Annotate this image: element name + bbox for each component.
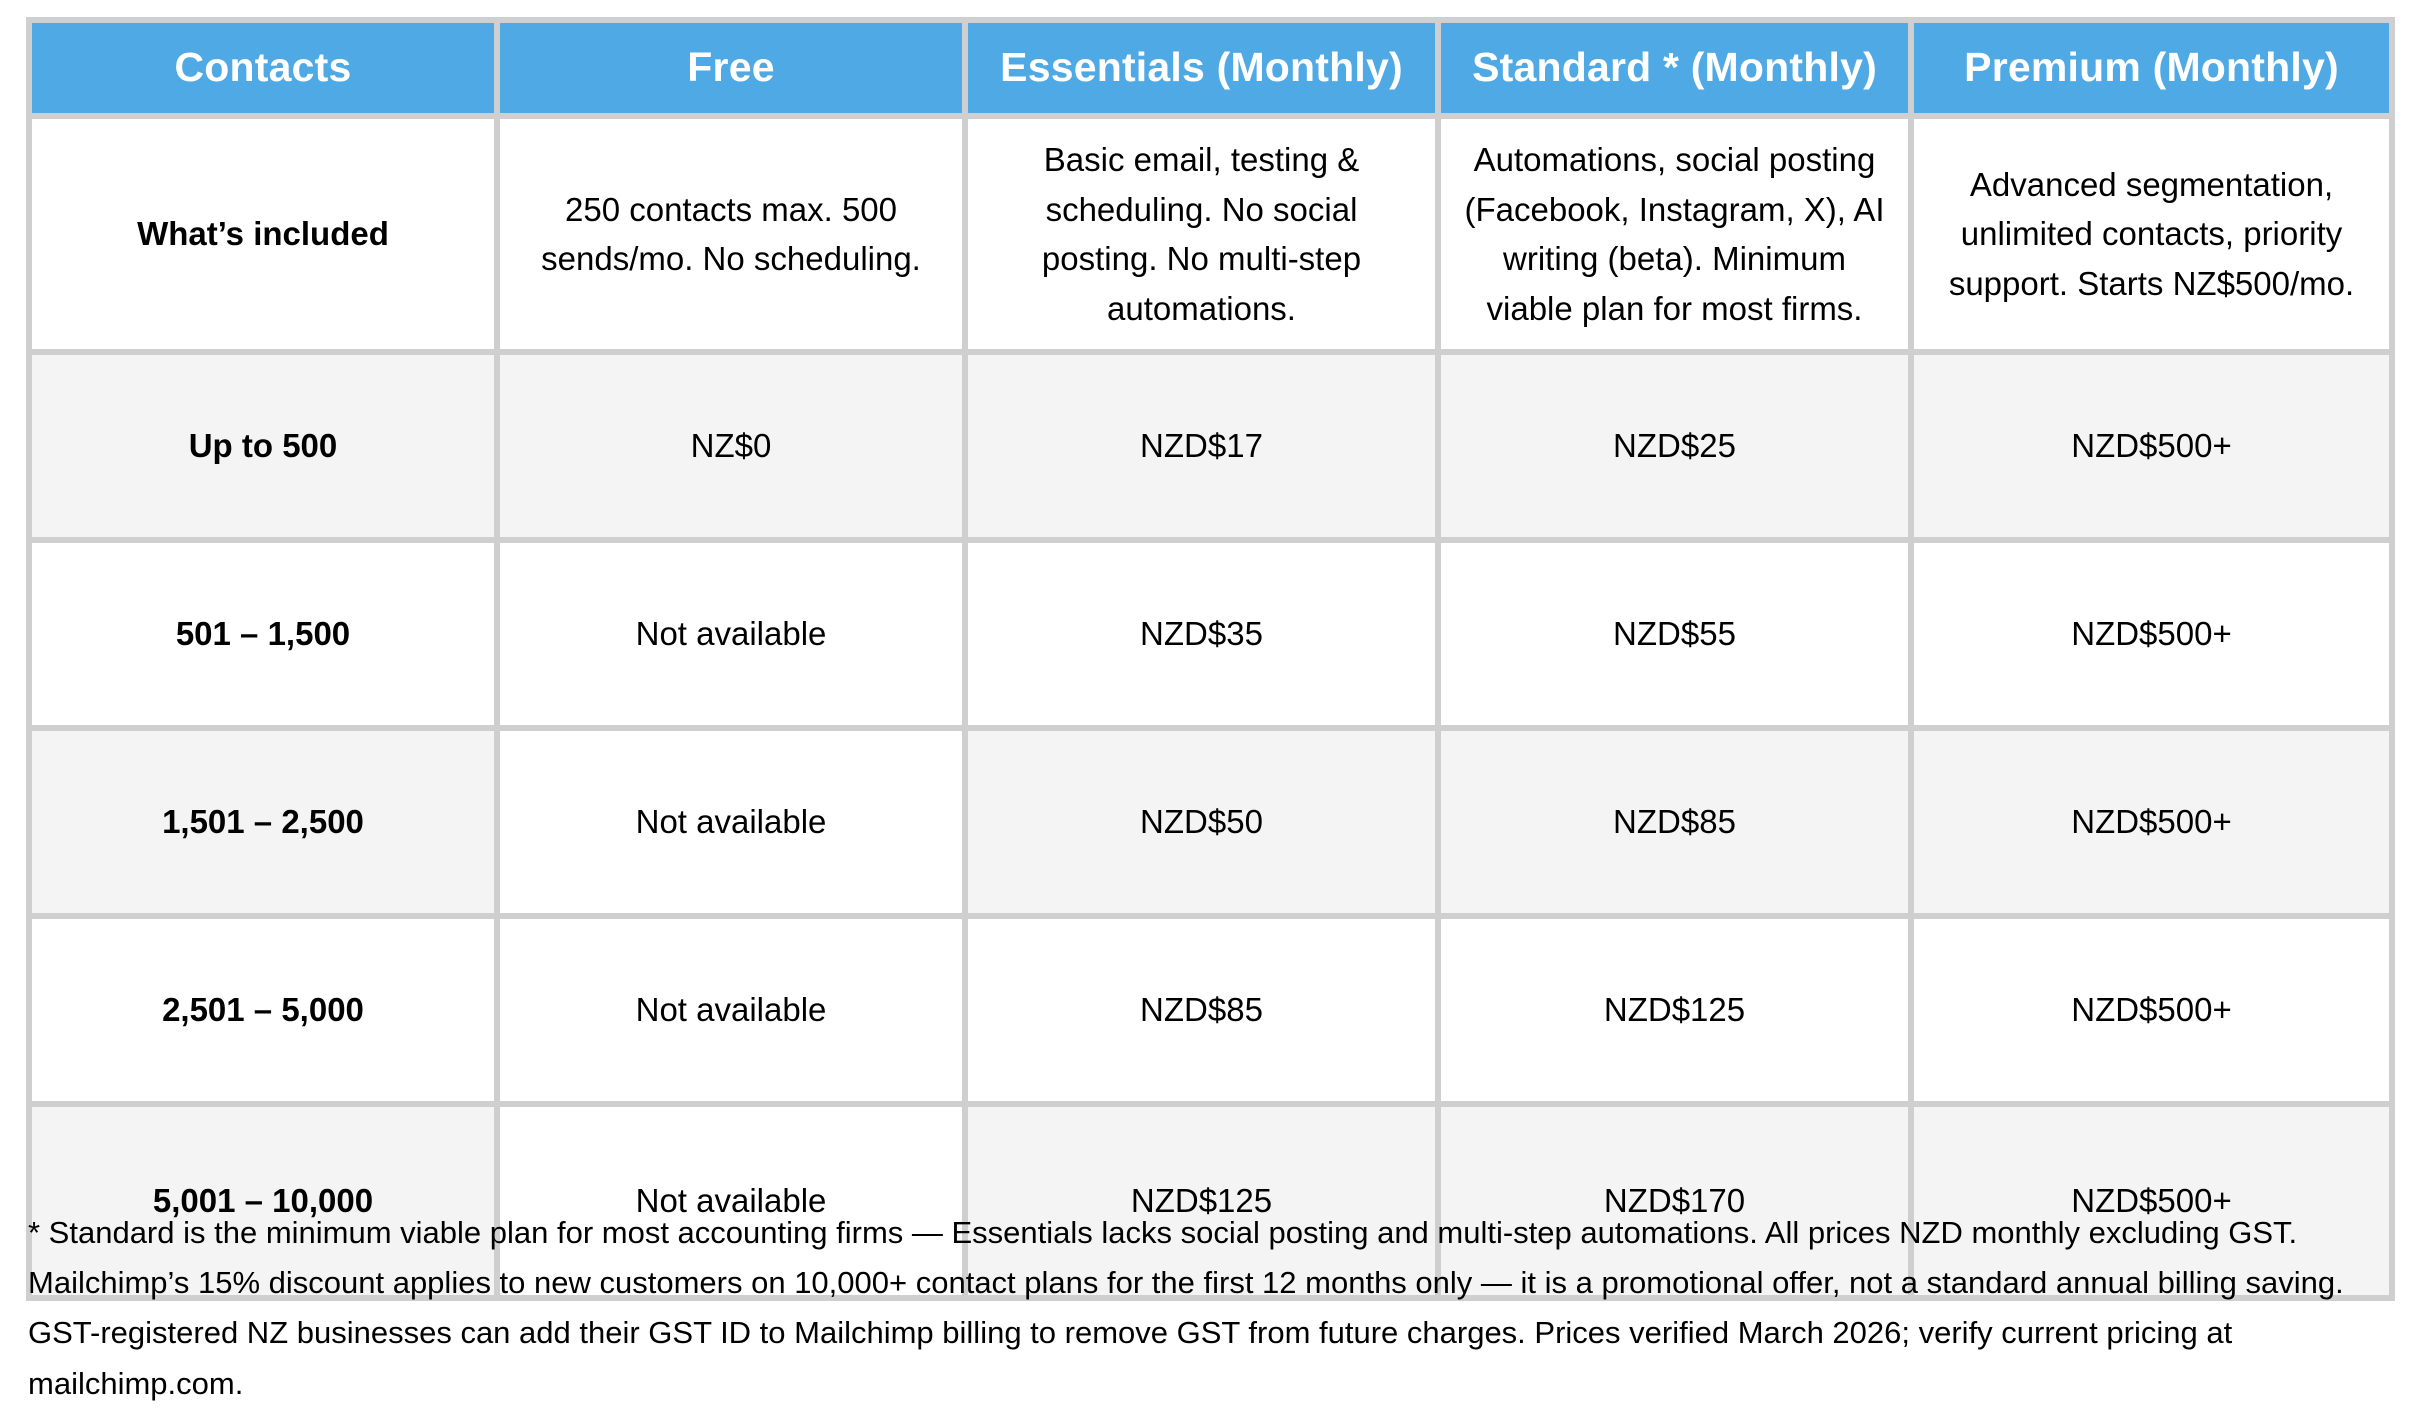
cell-premium-2501-5000: NZD$500+ [1914,919,2389,1107]
table-row: 501 – 1,500 Not available NZD$35 NZD$55 … [32,543,2389,731]
table-row: 2,501 – 5,000 Not available NZD$85 NZD$1… [32,919,2389,1107]
column-header-standard: Standard * (Monthly) [1441,23,1914,119]
row-label-501-1500: 501 – 1,500 [32,543,500,731]
row-label-whats-included: What’s included [32,119,500,355]
column-header-premium: Premium (Monthly) [1914,23,2389,119]
mailchimp-pricing-table: Contacts Free Essentials (Monthly) Stand… [32,23,2389,1295]
cell-standard-1501-2500: NZD$85 [1441,731,1914,919]
footnote-text: * Standard is the minimum viable plan fo… [28,1208,2348,1409]
column-header-essentials: Essentials (Monthly) [968,23,1441,119]
row-label-2501-5000: 2,501 – 5,000 [32,919,500,1107]
cell-essentials-501-1500: NZD$35 [968,543,1441,731]
cell-free-whats-included: 250 contacts max. 500 sends/mo. No sched… [500,119,968,355]
cell-free-1501-2500: Not available [500,731,968,919]
cell-free-up-to-500: NZ$0 [500,355,968,543]
cell-essentials-2501-5000: NZD$85 [968,919,1441,1107]
cell-essentials-up-to-500: NZD$17 [968,355,1441,543]
cell-essentials-whats-included: Basic email, testing & scheduling. No so… [968,119,1441,355]
row-label-1501-2500: 1,501 – 2,500 [32,731,500,919]
pricing-comparison-page: Contacts Free Essentials (Monthly) Stand… [0,0,2414,1398]
cell-premium-whats-included: Advanced segmentation, unlimited contact… [1914,119,2389,355]
cell-standard-2501-5000: NZD$125 [1441,919,1914,1107]
cell-premium-501-1500: NZD$500+ [1914,543,2389,731]
pricing-table-container: Contacts Free Essentials (Monthly) Stand… [26,17,2395,1301]
cell-premium-up-to-500: NZD$500+ [1914,355,2389,543]
column-header-free: Free [500,23,968,119]
header-row: Contacts Free Essentials (Monthly) Stand… [32,23,2389,119]
column-header-contacts: Contacts [32,23,500,119]
cell-premium-1501-2500: NZD$500+ [1914,731,2389,919]
row-label-up-to-500: Up to 500 [32,355,500,543]
cell-essentials-1501-2500: NZD$50 [968,731,1441,919]
table-row: 1,501 – 2,500 Not available NZD$50 NZD$8… [32,731,2389,919]
cell-standard-up-to-500: NZD$25 [1441,355,1914,543]
cell-free-2501-5000: Not available [500,919,968,1107]
table-body: What’s included 250 contacts max. 500 se… [32,119,2389,1295]
cell-standard-501-1500: NZD$55 [1441,543,1914,731]
cell-standard-whats-included: Automations, social posting (Facebook, I… [1441,119,1914,355]
cell-free-501-1500: Not available [500,543,968,731]
table-row: What’s included 250 contacts max. 500 se… [32,119,2389,355]
table-row: Up to 500 NZ$0 NZD$17 NZD$25 NZD$500+ [32,355,2389,543]
table-header: Contacts Free Essentials (Monthly) Stand… [32,23,2389,119]
